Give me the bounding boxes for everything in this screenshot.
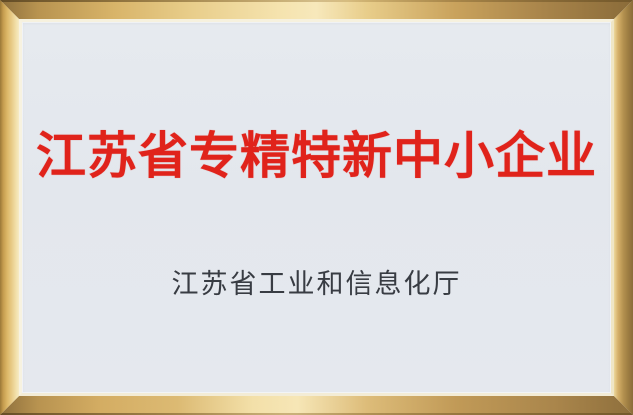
plaque-face: 江苏省专精特新中小企业 江苏省工业和信息化厅 <box>22 22 611 393</box>
plaque-issuing-authority: 江苏省工业和信息化厅 <box>22 266 611 302</box>
frame-border-right <box>611 0 633 415</box>
award-plaque: 江苏省专精特新中小企业 江苏省工业和信息化厅 <box>0 0 633 415</box>
frame-border-top <box>0 0 633 22</box>
frame-border-left <box>0 0 22 415</box>
plaque-title: 江苏省专精特新中小企业 <box>22 126 611 186</box>
frame-border-bottom <box>0 393 633 415</box>
